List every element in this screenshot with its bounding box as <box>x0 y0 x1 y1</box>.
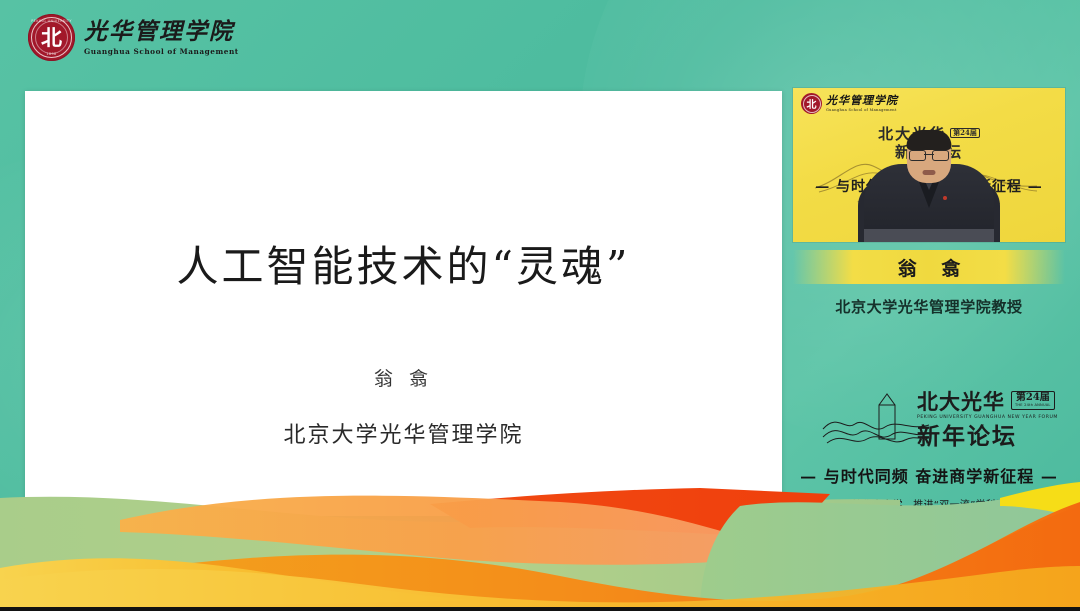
video-logo-chinese: 光华管理学院 <box>826 95 898 106</box>
forum-name-row: 北大光华 第24届 THE 24th ANNUAL <box>917 391 1058 412</box>
speaker-title: 北京大学光华管理学院教授 <box>793 296 1065 317</box>
presentation-slide[interactable]: 人工智能技术的“灵魂” 翁 翕 北京大学光华管理学院 <box>25 91 782 516</box>
header-logo-wordmark: 光华管理学院 Guanghua School of Management <box>84 19 239 55</box>
forum-edition-english: THE 24th ANNUAL <box>1015 404 1051 408</box>
video-seal-icon: 北 <box>801 93 822 114</box>
speaker-glasses-icon <box>909 150 949 159</box>
speaker-video-panel[interactable]: 北 光华管理学院 Guanghua School of Management 北… <box>793 88 1065 242</box>
forum-name-english: PEKING UNIVERSITY GUANGHUA NEW YEAR FORU… <box>917 415 1058 420</box>
speaker-podium <box>864 229 994 242</box>
video-logo-words: 光华管理学院 Guanghua School of Management <box>826 95 898 112</box>
peking-university-seal-icon: PEKING UNIVERSITY 北 1898 <box>28 14 75 61</box>
speaker-lapel-pin <box>943 196 947 200</box>
seal-micro-text-bottom: 1898 <box>28 52 75 56</box>
forum-mountain-logo-icon <box>821 391 931 451</box>
video-backdrop-logo: 北 光华管理学院 Guanghua School of Management <box>801 93 898 114</box>
header-logo-chinese: 光华管理学院 <box>84 19 239 44</box>
speaker-name-banner: 翁 翕 <box>793 250 1065 284</box>
presentation-stage: PEKING UNIVERSITY 北 1898 光华管理学院 Guanghua… <box>0 0 1080 611</box>
forum-edition-number: 第24届 <box>1015 393 1051 403</box>
forum-name-chinese: 北大光华 <box>917 391 1005 412</box>
slide-content: 人工智能技术的“灵魂” 翁 翕 北京大学光华管理学院 <box>25 91 782 516</box>
speaker-mouth <box>923 170 936 175</box>
forum-name-chinese-2: 新年论坛 <box>917 425 1058 448</box>
guanghua-header-logo: PEKING UNIVERSITY 北 1898 光华管理学院 Guanghua… <box>28 14 239 61</box>
video-logo-english: Guanghua School of Management <box>826 108 898 112</box>
forum-wordmark: 北大光华 第24届 THE 24th ANNUAL PEKING UNIVERS… <box>917 391 1058 448</box>
video-seal-glyph: 北 <box>801 93 822 114</box>
glasses-lens-left <box>909 150 926 161</box>
bottom-border-line <box>0 607 1080 611</box>
forum-edition-badge: 第24届 THE 24th ANNUAL <box>1011 391 1055 410</box>
forum-logo-row: 北大光华 第24届 THE 24th ANNUAL PEKING UNIVERS… <box>793 383 1065 455</box>
slide-author-name: 翁 翕 <box>374 364 433 391</box>
speaker-name: 翁 翕 <box>889 254 970 281</box>
glasses-lens-right <box>932 150 949 161</box>
slide-title: 人工智能技术的“灵魂” <box>177 242 631 292</box>
speaker-figure <box>864 130 994 242</box>
slide-author-affiliation: 北京大学光华管理学院 <box>283 417 523 449</box>
decorative-wave-graphics <box>0 476 1080 611</box>
speaker-hair <box>907 130 952 150</box>
header-logo-english: Guanghua School of Management <box>84 47 239 56</box>
